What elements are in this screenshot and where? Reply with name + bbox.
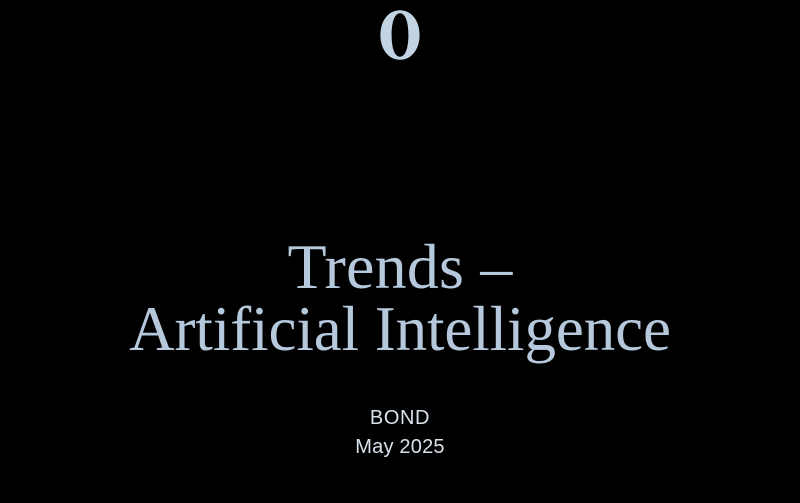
byline-date: May 2025 — [0, 433, 800, 462]
title-line-2: Artificial Intelligence — [0, 298, 800, 360]
title-line-1: Trends – — [0, 236, 800, 298]
letter-o-serif-logo-icon — [378, 9, 422, 61]
byline: BOND May 2025 — [0, 404, 800, 462]
title-slide: Trends – Artificial Intelligence BOND Ma… — [0, 0, 800, 503]
page-title: Trends – Artificial Intelligence — [0, 236, 800, 360]
brand-logo — [0, 0, 800, 96]
byline-organization: BOND — [0, 404, 800, 433]
